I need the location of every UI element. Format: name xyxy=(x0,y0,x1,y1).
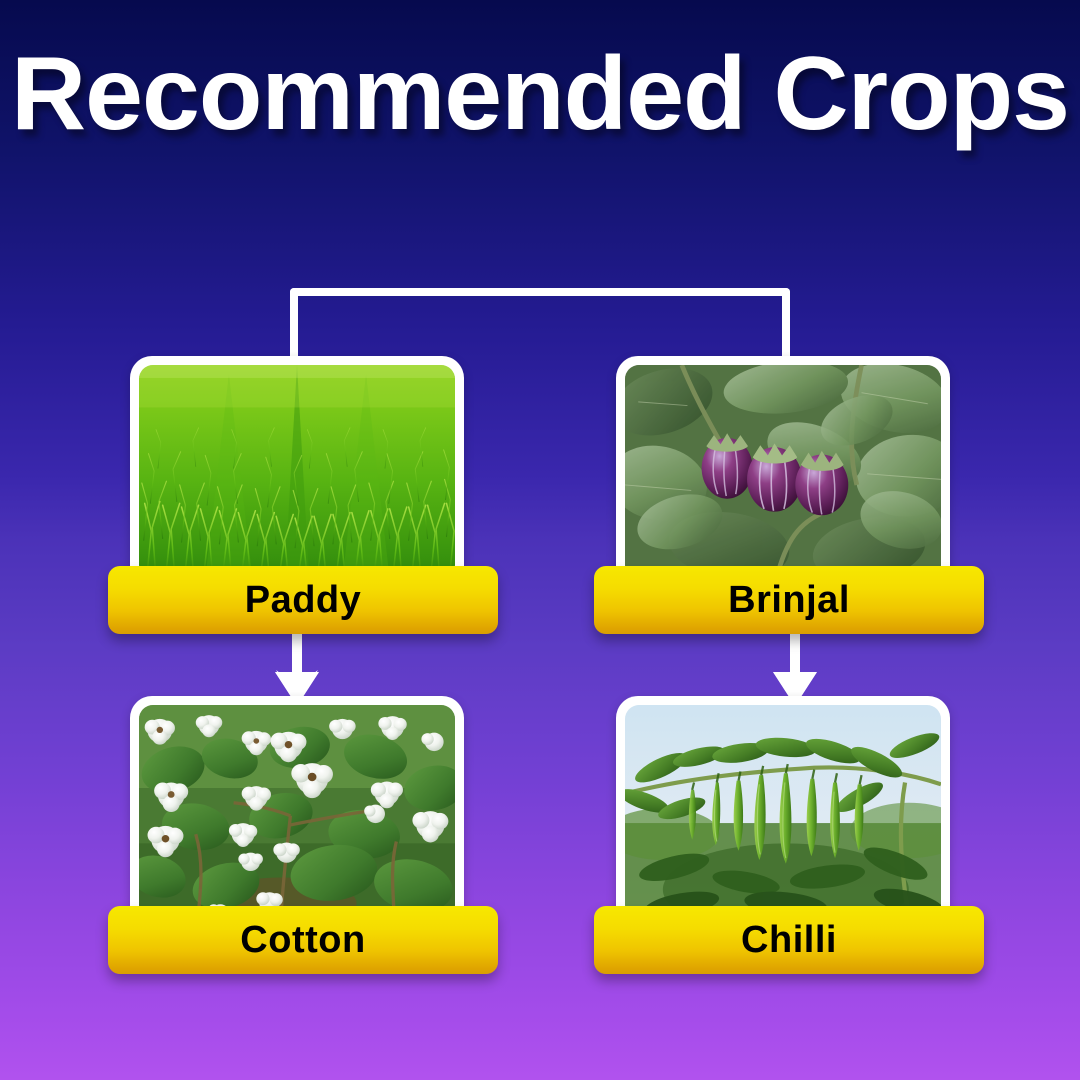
recommended-crops-infographic: Recommended Crops xyxy=(0,0,1080,1080)
crop-label-brinjal[interactable]: Brinjal xyxy=(594,566,984,634)
crop-label-text: Brinjal xyxy=(728,581,850,619)
crop-label-paddy[interactable]: Paddy xyxy=(108,566,498,634)
paddy-field-photo xyxy=(139,365,455,579)
photo-frame-chilli xyxy=(616,696,950,928)
cotton-field-photo xyxy=(139,705,455,919)
crop-label-text: Chilli xyxy=(741,921,837,959)
connector-left-drop xyxy=(290,288,298,364)
connector-horizontal-line xyxy=(290,288,790,296)
photo-frame-brinjal xyxy=(616,356,950,588)
crop-label-cotton[interactable]: Cotton xyxy=(108,906,498,974)
crop-label-text: Cotton xyxy=(240,921,365,959)
brinjal-plant-photo xyxy=(625,365,941,579)
connector-bracket xyxy=(290,288,790,364)
photo-frame-paddy xyxy=(130,356,464,588)
connector-right-drop xyxy=(782,288,790,364)
crop-label-text: Paddy xyxy=(245,581,362,619)
chilli-plant-photo xyxy=(625,705,941,919)
crop-label-chilli[interactable]: Chilli xyxy=(594,906,984,974)
page-title: Recommended Crops xyxy=(0,44,1080,146)
photo-frame-cotton xyxy=(130,696,464,928)
